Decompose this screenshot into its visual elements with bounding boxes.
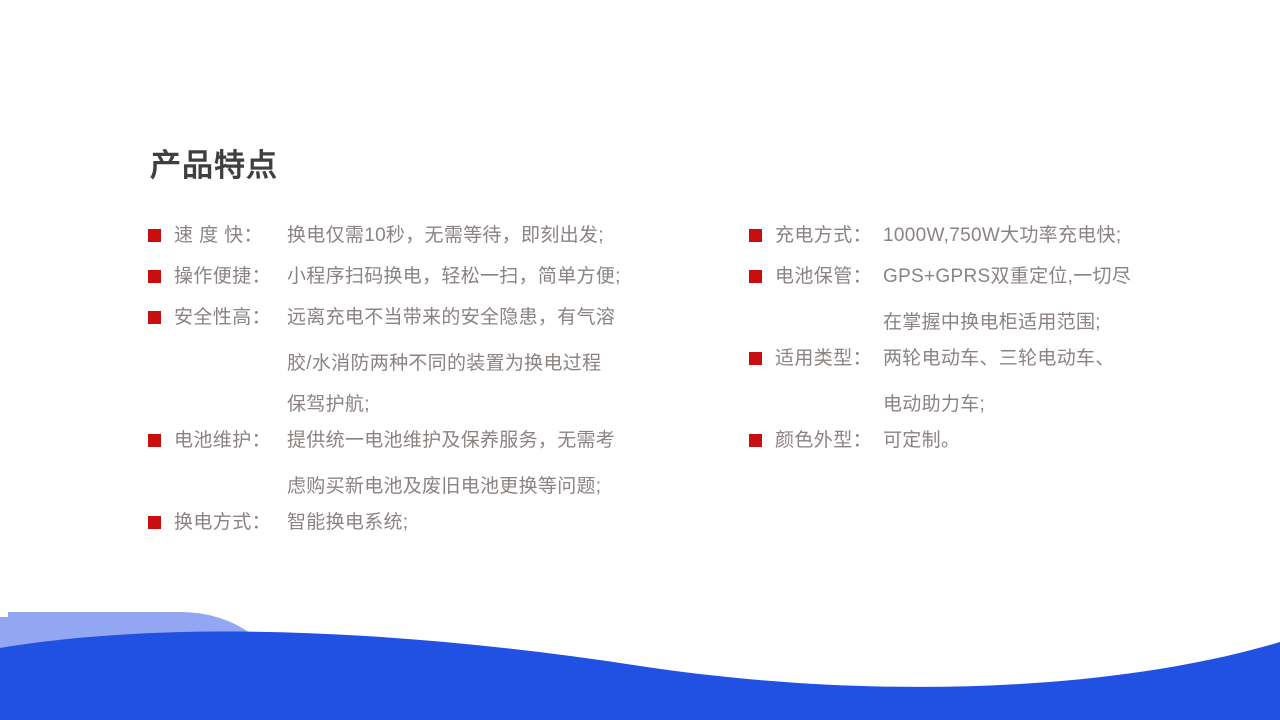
feature-text-line: 小程序扫码换电，轻松一扫，简单方便; <box>287 261 621 292</box>
feature-head: 适用类型：两轮电动车、三轮电动车、 <box>749 343 1189 384</box>
bullet-square-icon <box>148 516 161 529</box>
slide-canvas: 产品特点 速 度 快：换电仅需10秒，无需等待，即刻出发;操作便捷：小程序扫码换… <box>0 0 1280 720</box>
feature-label: 换电方式： <box>174 507 287 538</box>
wave-dark-shape <box>0 632 1280 720</box>
bullet-square-icon <box>148 270 161 283</box>
feature-text-line: 提供统一电池维护及保养服务，无需考 <box>287 425 615 456</box>
feature-item: 颜色外型：可定制。 <box>749 425 1189 466</box>
feature-text-line: GPS+GPRS双重定位,一切尽 <box>883 261 1131 292</box>
feature-text-line: 可定制。 <box>883 425 960 456</box>
feature-text-line: 在掌握中换电柜适用范围; <box>749 302 1189 343</box>
bullet-square-icon <box>749 229 762 242</box>
bullet-square-icon <box>749 352 762 365</box>
bullet-square-icon <box>148 229 161 242</box>
bullet-square-icon <box>148 311 161 324</box>
feature-text-line: 1000W,750W大功率充电快; <box>883 220 1121 251</box>
feature-head: 换电方式：智能换电系统; <box>148 507 678 548</box>
feature-text-line: 虑购买新电池及废旧电池更换等问题; <box>148 466 678 507</box>
bullet-square-icon <box>148 434 161 447</box>
feature-item: 适用类型：两轮电动车、三轮电动车、电动助力车; <box>749 343 1189 425</box>
feature-head: 电池维护：提供统一电池维护及保养服务，无需考 <box>148 425 678 466</box>
feature-label: 充电方式： <box>775 220 883 251</box>
feature-item: 电池维护：提供统一电池维护及保养服务，无需考虑购买新电池及废旧电池更换等问题; <box>148 425 678 507</box>
feature-label: 操作便捷： <box>174 261 287 292</box>
wave-decoration <box>0 590 1280 720</box>
feature-item: 电池保管：GPS+GPRS双重定位,一切尽在掌握中换电柜适用范围; <box>749 261 1189 343</box>
feature-list-left: 速 度 快：换电仅需10秒，无需等待，即刻出发;操作便捷：小程序扫码换电，轻松一… <box>148 220 678 548</box>
feature-text-line: 两轮电动车、三轮电动车、 <box>883 343 1115 374</box>
feature-item: 安全性高：远离充电不当带来的安全隐患，有气溶胶/水消防两种不同的装置为换电过程保… <box>148 302 678 425</box>
feature-head: 充电方式：1000W,750W大功率充电快; <box>749 220 1189 261</box>
bullet-square-icon <box>749 270 762 283</box>
feature-head: 速 度 快：换电仅需10秒，无需等待，即刻出发; <box>148 220 678 261</box>
feature-label: 电池维护： <box>174 425 287 456</box>
feature-label: 安全性高： <box>174 302 287 333</box>
feature-head: 安全性高：远离充电不当带来的安全隐患，有气溶 <box>148 302 678 343</box>
feature-label: 适用类型： <box>775 343 883 374</box>
feature-label: 颜色外型： <box>775 425 883 456</box>
feature-item: 换电方式：智能换电系统; <box>148 507 678 548</box>
feature-item: 速 度 快：换电仅需10秒，无需等待，即刻出发; <box>148 220 678 261</box>
feature-label: 电池保管： <box>775 261 883 292</box>
feature-text-line: 智能换电系统; <box>287 507 408 538</box>
wave-light-shape <box>0 612 268 720</box>
feature-text-line: 电动助力车; <box>749 384 1189 425</box>
bullet-square-icon <box>749 434 762 447</box>
feature-text-line: 胶/水消防两种不同的装置为换电过程 <box>148 343 678 384</box>
feature-list-right: 充电方式：1000W,750W大功率充电快;电池保管：GPS+GPRS双重定位,… <box>749 220 1189 466</box>
feature-text-line: 换电仅需10秒，无需等待，即刻出发; <box>287 220 604 251</box>
page-title: 产品特点 <box>150 146 278 186</box>
feature-head: 操作便捷：小程序扫码换电，轻松一扫，简单方便; <box>148 261 678 302</box>
feature-item: 操作便捷：小程序扫码换电，轻松一扫，简单方便; <box>148 261 678 302</box>
feature-text-line: 远离充电不当带来的安全隐患，有气溶 <box>287 302 615 333</box>
feature-item: 充电方式：1000W,750W大功率充电快; <box>749 220 1189 261</box>
feature-text-line: 保驾护航; <box>148 384 678 425</box>
feature-label: 速 度 快： <box>174 220 287 251</box>
feature-head: 电池保管：GPS+GPRS双重定位,一切尽 <box>749 261 1189 302</box>
feature-head: 颜色外型：可定制。 <box>749 425 1189 466</box>
